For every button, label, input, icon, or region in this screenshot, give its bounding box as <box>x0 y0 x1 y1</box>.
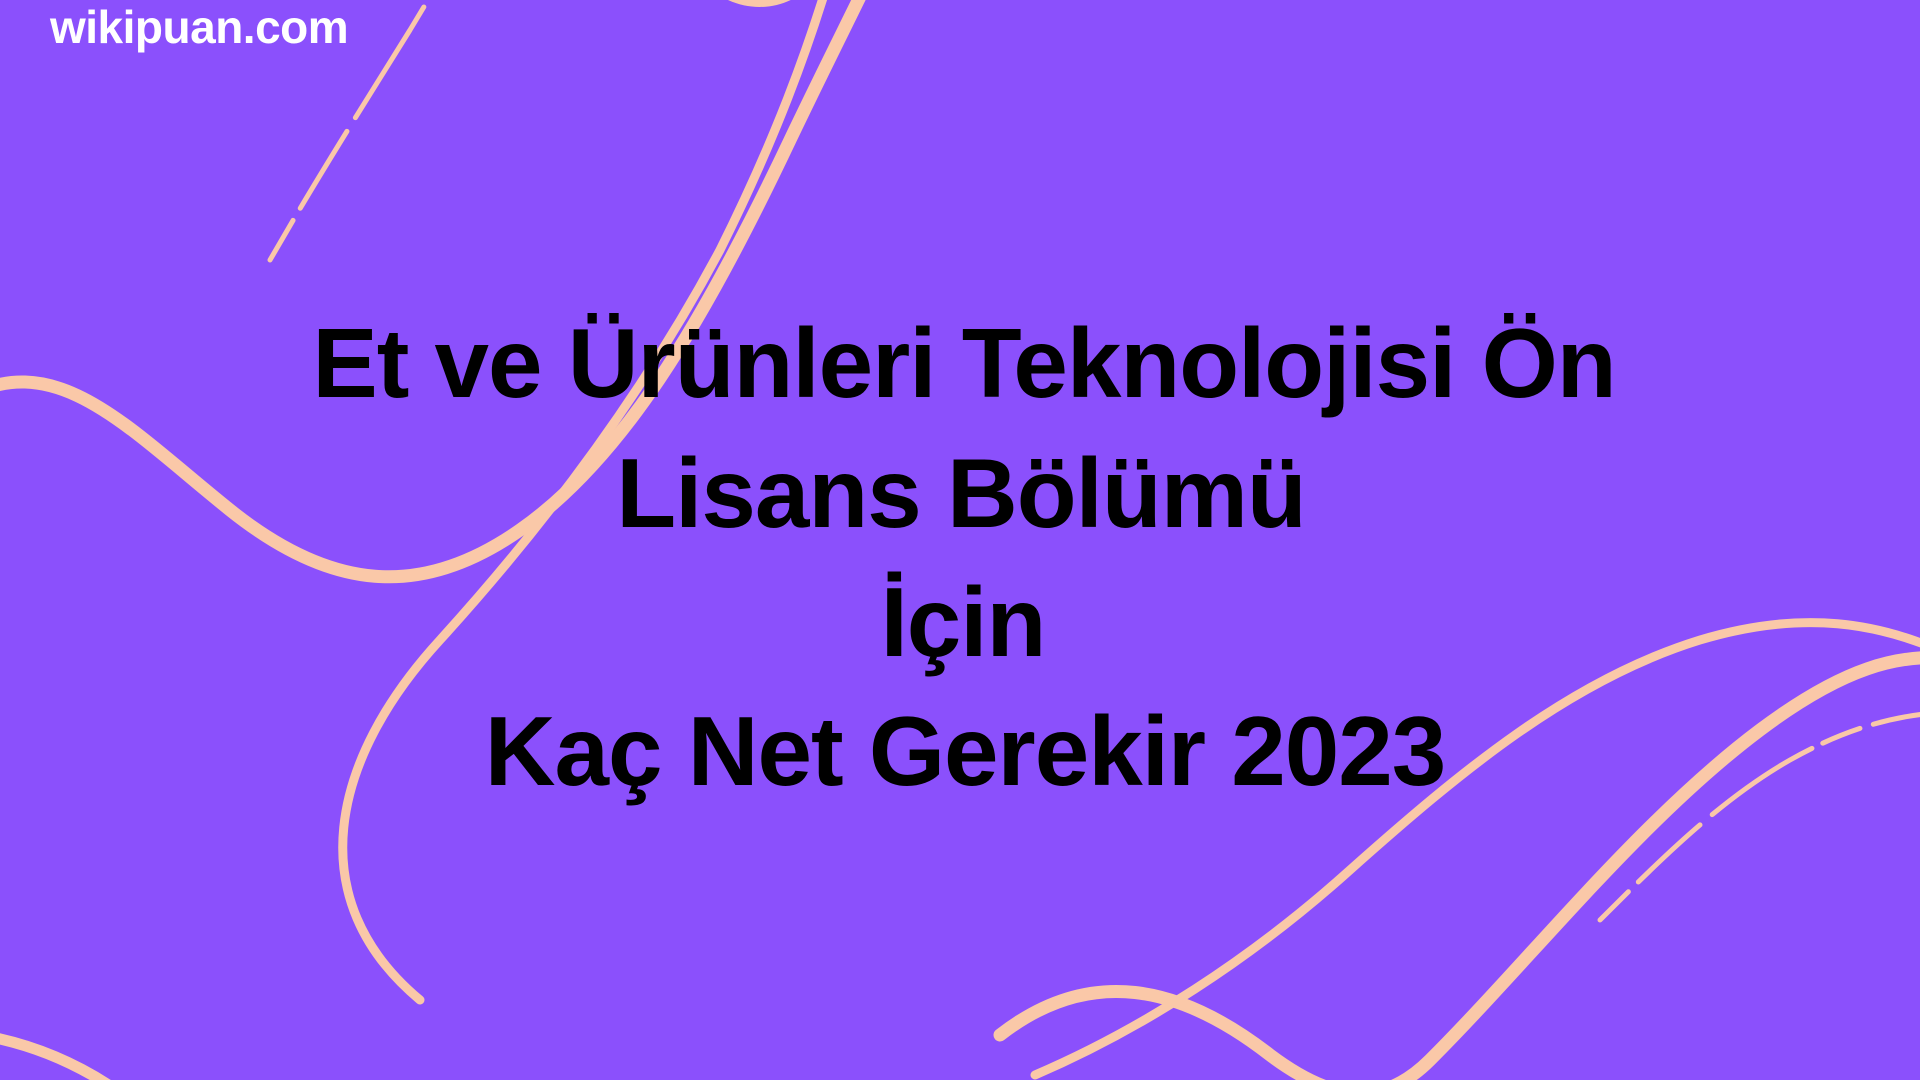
page-title: Et ve Ürünleri Teknolojisi Ön Lisans Böl… <box>0 0 1920 1080</box>
title-line-2: Lisans Bölümü <box>616 429 1305 558</box>
title-line-4: Kaç Net Gerekir 2023 <box>485 687 1446 816</box>
site-watermark: wikipuan.com <box>50 2 348 53</box>
banner-root: wikipuan.com Et ve Ürünleri Teknolojisi … <box>0 0 1920 1080</box>
title-line-1: Et ve Ürünleri Teknolojisi Ön <box>312 299 1615 428</box>
title-line-3: İçin <box>881 558 1046 687</box>
